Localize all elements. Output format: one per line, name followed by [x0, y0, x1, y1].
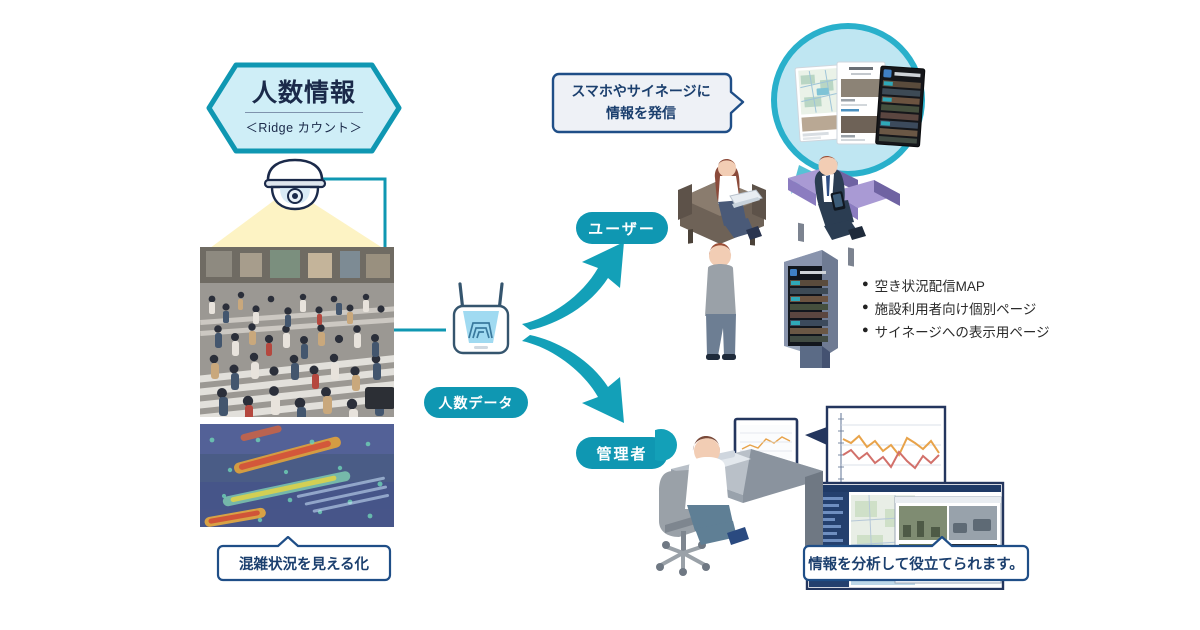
digital-signage-icon	[784, 250, 838, 368]
bullet-dot-icon: ●	[862, 321, 869, 340]
people-data-pill[interactable]: 人数データ	[424, 387, 528, 418]
router-gateway-icon	[443, 281, 519, 363]
badge-subtitle: ＜Ridge カウント＞	[245, 117, 362, 136]
list-item-label: サイネージへの表示用ページ	[875, 321, 1050, 344]
analyze-callout-label: 情報を分析して役立てられます。	[802, 544, 1030, 582]
user-pill[interactable]: ユーザー	[576, 212, 668, 244]
deliverables-list: ● 空き状況配信MAP ● 施設利用者向け個別ページ ● サイネージへの表示用ペ…	[862, 275, 1072, 345]
signage-callout: スマホやサイネージに 情報を発信	[551, 72, 747, 134]
people-count-badge: 人数情報 ＜Ridge カウント＞	[206, 62, 402, 154]
list-item: ● 空き状況配信MAP	[862, 275, 1072, 298]
badge-divider	[245, 112, 363, 113]
arrow-to-admin	[520, 335, 630, 427]
badge-title: 人数情報	[252, 80, 356, 106]
list-item: ● 施設利用者向け個別ページ	[862, 298, 1072, 321]
crowd-scramble-crossing-photo	[200, 247, 394, 417]
dome-camera-icon	[250, 158, 340, 214]
signage-callout-line1: スマホやサイネージに	[571, 81, 710, 103]
signage-callout-line2: 情報を発信	[606, 103, 676, 125]
crowd-density-heatmap-photo	[200, 424, 394, 527]
list-item: ● サイネージへの表示用ページ	[862, 321, 1072, 344]
bullet-dot-icon: ●	[862, 275, 869, 294]
analyze-callout: 情報を分析して役立てられます。	[802, 536, 1030, 582]
bullet-dot-icon: ●	[862, 298, 869, 317]
standing-person	[705, 243, 736, 360]
heatmap-callout: 混雑状況を見える化	[216, 536, 392, 582]
arrow-to-user	[520, 240, 630, 330]
heatmap-callout-label: 混雑状況を見える化	[216, 544, 392, 582]
list-item-label: 空き状況配信MAP	[875, 275, 985, 298]
diagram-canvas: 人数情報 ＜Ridge カウント＞	[0, 0, 1200, 630]
list-item-label: 施設利用者向け個別ページ	[875, 298, 1037, 321]
